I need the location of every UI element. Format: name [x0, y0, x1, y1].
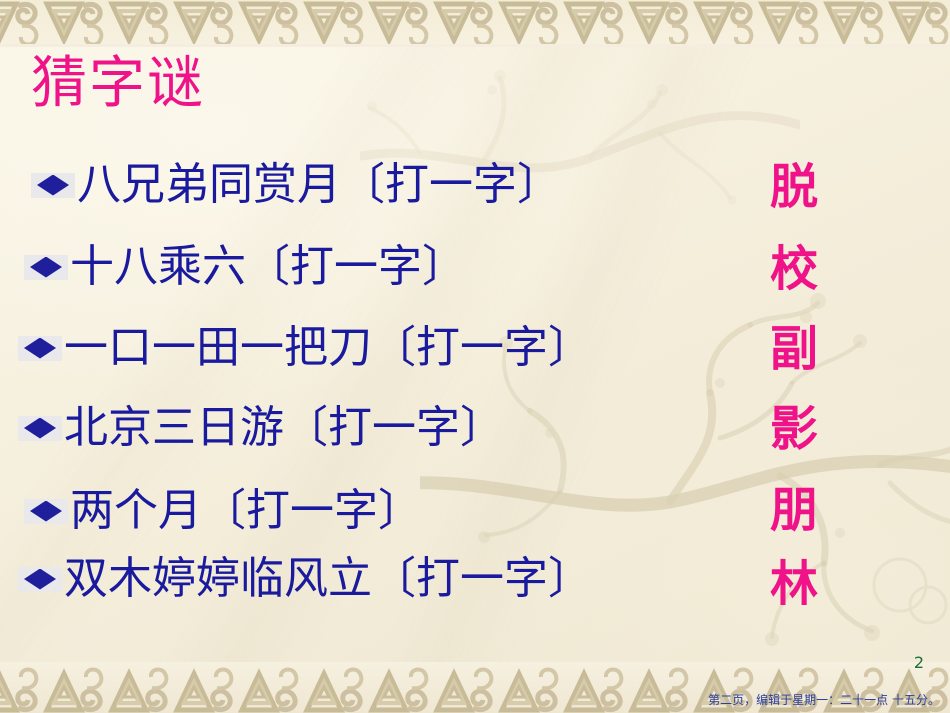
riddle-answer: 朋: [770, 486, 818, 534]
riddle-answer: 校: [770, 245, 818, 293]
slide-canvas: 猜字谜 八兄弟同赏月〔打一字〕 十八乘六〔打一字〕 一口一田一把刀〔打一字〕 北…: [0, 0, 950, 713]
riddle-answer: 影: [770, 405, 818, 453]
riddle-answer: 脱: [770, 163, 818, 211]
riddle-answer: 副: [770, 325, 818, 373]
footer-note: 第二页，编辑于星期一：二十一点 十五分。: [708, 691, 940, 708]
answer-column: 脱 校 副 影 朋 林: [0, 0, 950, 713]
riddle-answer: 林: [770, 560, 818, 608]
page-number: 2: [914, 653, 924, 672]
